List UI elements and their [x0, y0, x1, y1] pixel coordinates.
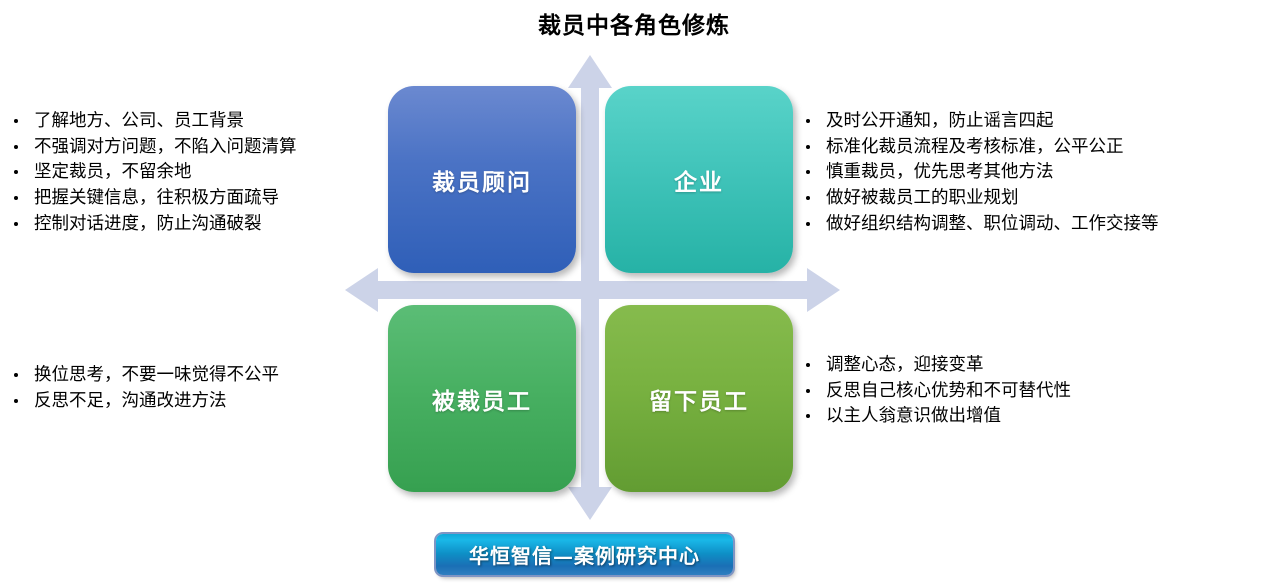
quadrant-box-remaining[interactable]: 留下员工 [605, 305, 793, 492]
list-item: 把握关键信息，往积极方面疏导 [8, 185, 297, 211]
quadrant-label-remaining: 留下员工 [649, 382, 749, 416]
quadrant-label-company: 企业 [674, 163, 724, 197]
list-item: 做好组织结构调整、职位调动、工作交接等 [800, 211, 1159, 237]
list-item: 以主人翁意识做出增值 [800, 403, 1071, 429]
quadrant-box-advisor[interactable]: 裁员顾问 [388, 86, 576, 273]
list-item: 及时公开通知，防止谣言四起 [800, 108, 1159, 134]
list-item: 慎重裁员，优先思考其他方法 [800, 159, 1159, 185]
list-item: 换位思考，不要一味觉得不公平 [8, 362, 279, 388]
footer-banner-label: 华恒智信—案例研究中心 [469, 540, 700, 569]
bullet-list-laid-off: 换位思考，不要一味觉得不公平 反思不足，沟通改进方法 [8, 362, 279, 413]
bullet-list-advisor: 了解地方、公司、员工背景 不强调对方问题，不陷入问题清算 坚定裁员，不留余地 把… [8, 108, 297, 237]
list-item: 坚定裁员，不留余地 [8, 159, 297, 185]
list-item: 标准化裁员流程及考核标准，公平公正 [800, 134, 1159, 160]
footer-banner: 华恒智信—案例研究中心 [436, 534, 733, 575]
page-title: 裁员中各角色修炼 [0, 6, 1268, 40]
quadrant-box-company[interactable]: 企业 [605, 86, 793, 273]
list-item: 调整心态，迎接变革 [800, 352, 1071, 378]
list-item: 了解地方、公司、员工背景 [8, 108, 297, 134]
quadrant-box-laid-off[interactable]: 被裁员工 [388, 305, 576, 492]
list-item: 反思不足，沟通改进方法 [8, 388, 279, 414]
list-item: 做好被裁员工的职业规划 [800, 185, 1159, 211]
list-item: 反思自己核心优势和不可替代性 [800, 378, 1071, 404]
quadrant-label-advisor: 裁员顾问 [432, 163, 532, 197]
list-item: 控制对话进度，防止沟通破裂 [8, 211, 297, 237]
list-item: 不强调对方问题，不陷入问题清算 [8, 134, 297, 160]
quadrant-label-laid-off: 被裁员工 [432, 382, 532, 416]
bullet-list-company: 及时公开通知，防止谣言四起 标准化裁员流程及考核标准，公平公正 慎重裁员，优先思… [800, 108, 1159, 237]
bullet-list-remaining: 调整心态，迎接变革 反思自己核心优势和不可替代性 以主人翁意识做出增值 [800, 352, 1071, 429]
